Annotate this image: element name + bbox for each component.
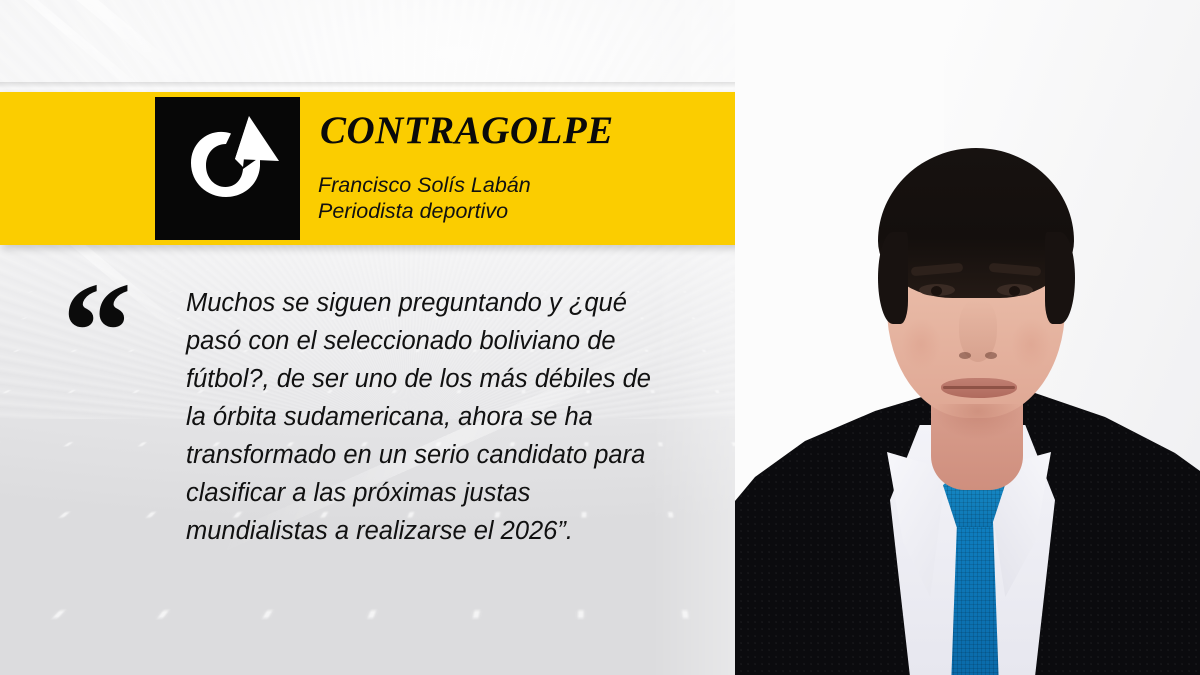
mouth-line: [943, 386, 1015, 389]
nostril-left: [959, 352, 971, 359]
pupil-right: [1009, 286, 1020, 296]
author-portrait: [735, 0, 1200, 675]
quote-card: CONTRAGOLPE Francisco Solís Labán Period…: [0, 0, 1200, 675]
quote-line: fútbol?, de ser uno de los más débiles d…: [186, 360, 726, 398]
logo-box: [155, 97, 300, 240]
contragolpe-arrow-logo-icon: [155, 97, 300, 240]
necktie-body: [949, 513, 1001, 675]
quote-text: Muchos se siguen preguntando y ¿qué pasó…: [186, 284, 726, 550]
cheek-left: [901, 318, 941, 370]
chin-shadow: [933, 404, 1023, 440]
quote-line: la órbita sudamericana, ahora se ha: [186, 398, 726, 436]
necktie-texture: [949, 513, 1001, 675]
quote-line: transformado en un serio candidato para: [186, 436, 726, 474]
author-byline: Francisco Solís Labán Periodista deporti…: [318, 172, 531, 224]
quote-line: Muchos se siguen preguntando y ¿qué: [186, 284, 726, 322]
hair-side-right: [1045, 232, 1075, 324]
cheek-right: [1011, 318, 1051, 370]
open-quote-icon: “: [62, 262, 126, 402]
quote-line: mundialistas a realizarse el 2026”.: [186, 512, 726, 550]
hair-side-left: [878, 232, 908, 324]
pupil-left: [931, 286, 942, 296]
page-title: CONTRAGOLPE: [320, 108, 614, 153]
quote-line: clasificar a las próximas justas: [186, 474, 726, 512]
quote-line: pasó con el seleccionado boliviano de: [186, 322, 726, 360]
nostril-right: [985, 352, 997, 359]
